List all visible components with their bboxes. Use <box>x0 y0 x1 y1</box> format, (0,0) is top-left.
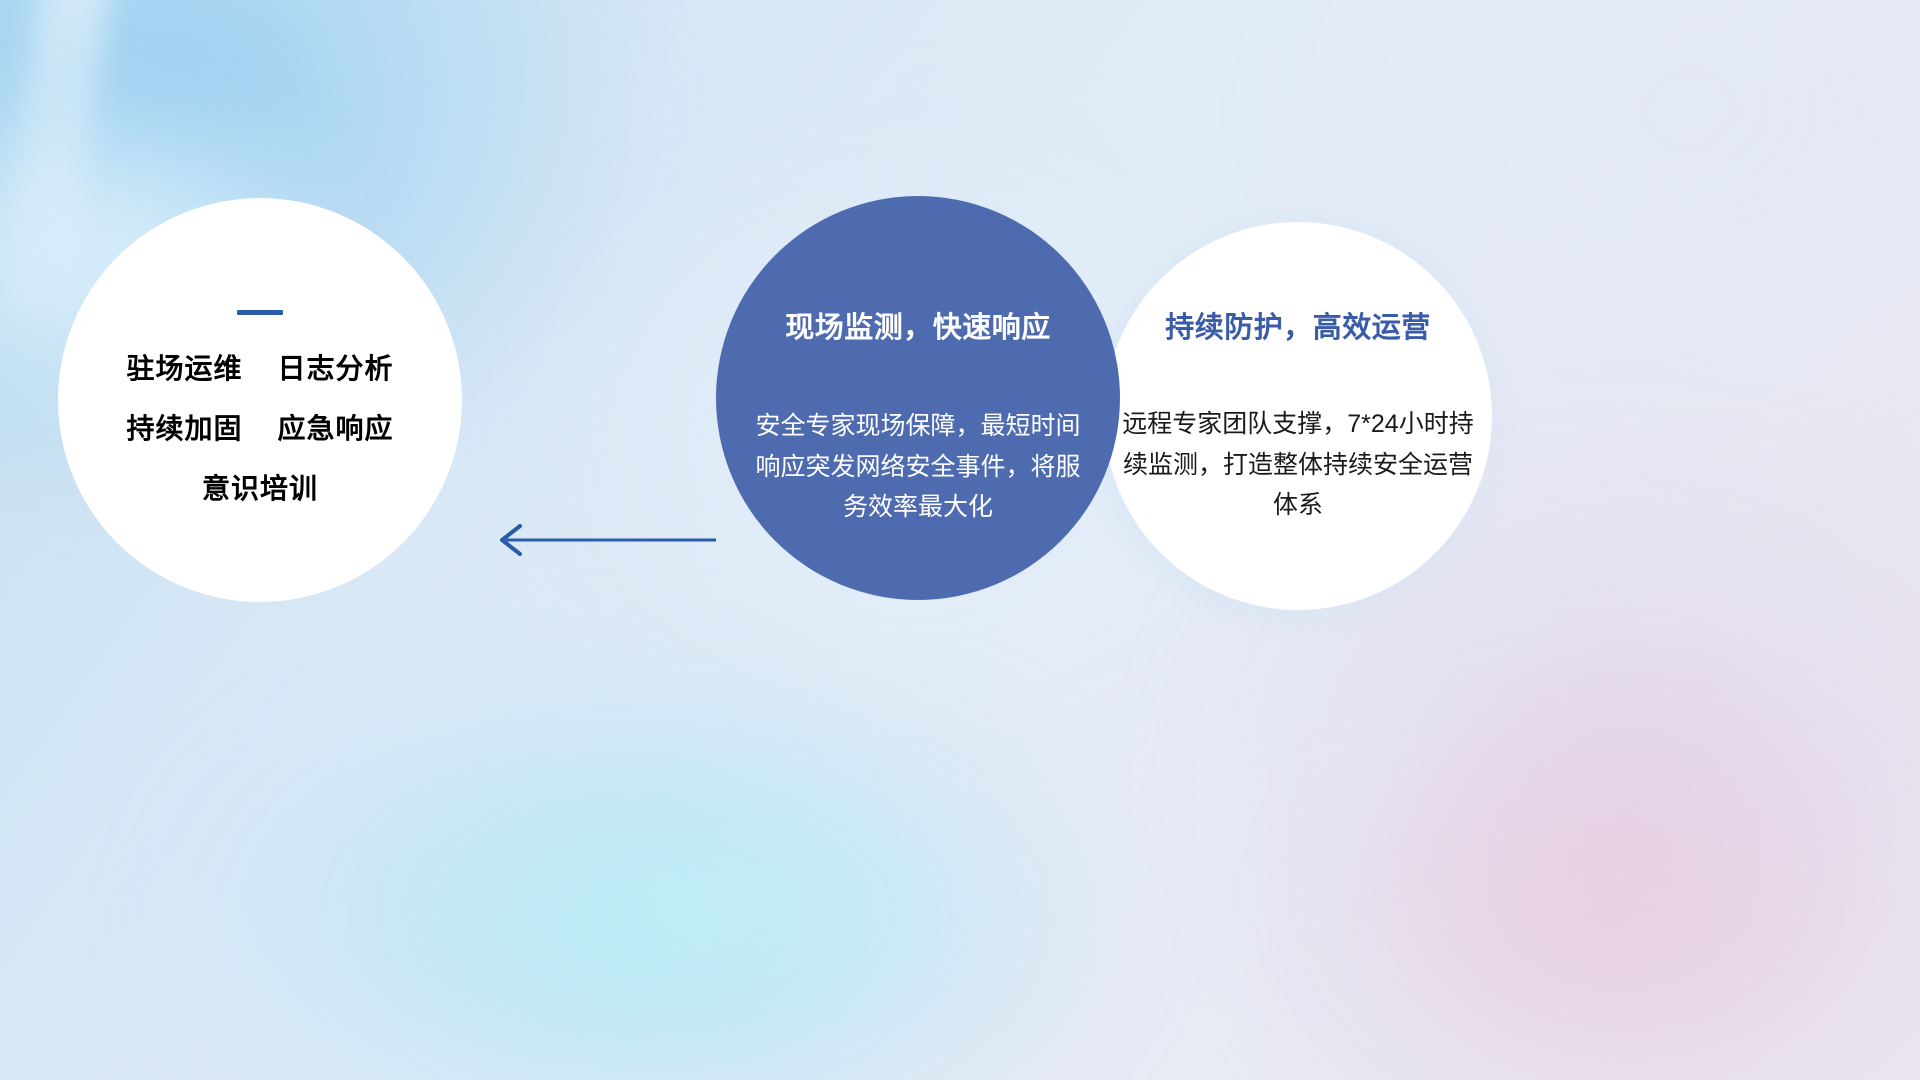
arrow-icon <box>488 518 718 562</box>
right-circle-shape[interactable] <box>1104 222 1492 610</box>
slide-canvas: 驻场运维 日志分析 持续加固 应急响应 意识培训 现场监测，快速响应 安全专家现… <box>0 0 1920 1080</box>
middle-circle-shape[interactable] <box>716 196 1120 600</box>
left-circle-shape[interactable] <box>58 198 462 602</box>
connector-arrow <box>488 518 718 562</box>
